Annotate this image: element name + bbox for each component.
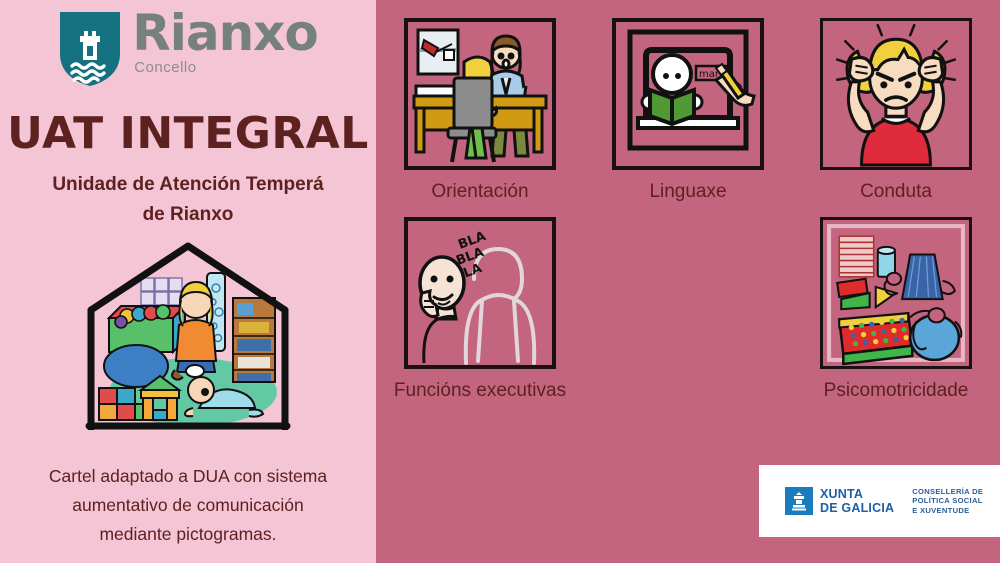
- service-card-psicomotricidade[interactable]: Psicomotricidade: [796, 217, 996, 402]
- xunta-line-2: DE GALICIA: [820, 501, 894, 515]
- counselling-session-pictogram: [404, 18, 556, 170]
- conselleria-line-3: E XUVENTUDE: [912, 506, 983, 516]
- page-subtitle: Unidade de Atención Temperá de Rianxo: [52, 170, 323, 230]
- castle-tower-waves-shield-icon: [58, 10, 122, 88]
- services-row-2: BLA BLA BLA: [376, 217, 1000, 402]
- conselleria-line-1: CONSELLERÍA DE: [912, 487, 983, 497]
- page-title: UAT INTEGRAL: [7, 110, 369, 158]
- poster-caption-line1: Cartel adaptado a DUA con sistema: [49, 466, 327, 486]
- xunta-emblem-icon: [785, 487, 813, 515]
- service-label-funcions: Funcións executivas: [394, 380, 566, 402]
- xunta-wordmark: XUNTA DE GALICIA: [820, 487, 894, 515]
- service-card-linguaxe[interactable]: mar Linguaxe: [588, 18, 788, 203]
- service-card-orientacion[interactable]: Orientación: [380, 18, 580, 203]
- services-grid: Orientación: [376, 18, 1000, 402]
- house-playroom-illustration: [81, 240, 295, 430]
- poster-root: Rianxo Concello UAT INTEGRAL Unidade de …: [0, 0, 1000, 563]
- poster-caption-line3: mediante pictogramas.: [99, 524, 276, 544]
- page-subtitle-line2: de Rianxo: [143, 204, 234, 225]
- service-card-conduta[interactable]: Conduta: [796, 18, 996, 203]
- angry-child-pictogram: [820, 18, 972, 170]
- xunta-de-galicia-logo: XUNTA DE GALICIA: [785, 487, 894, 515]
- poster-caption: Cartel adaptado a DUA con sistema aument…: [0, 462, 376, 549]
- service-card-funcions[interactable]: BLA BLA BLA: [380, 217, 580, 402]
- conselleria-line-2: POLÍTICA SOCIAL: [912, 496, 983, 506]
- brand-logo: Rianxo Concello: [0, 8, 376, 96]
- service-label-linguaxe: Linguaxe: [649, 181, 726, 203]
- services-row-1: Orientación: [376, 18, 1000, 203]
- conselleria-wordmark: CONSELLERÍA DE POLÍTICA SOCIAL E XUVENTU…: [912, 487, 983, 516]
- brand-name: Rianxo: [132, 8, 318, 58]
- page-subtitle-line1: Unidade de Atención Temperá: [52, 174, 323, 195]
- left-panel: Rianxo Concello UAT INTEGRAL Unidade de …: [0, 0, 376, 563]
- service-label-psicomotricidade: Psicomotricidade: [824, 380, 969, 402]
- footer-logo-bar: XUNTA DE GALICIA CONSELLERÍA DE POLÍTICA…: [759, 465, 1000, 537]
- poster-caption-line2: aumentativo de comunicación: [72, 495, 304, 515]
- talking-person-bla-pictogram: BLA BLA BLA: [404, 217, 556, 369]
- psychomotor-equipment-pictogram: [820, 217, 972, 369]
- reading-writing-pictogram: mar: [612, 18, 764, 170]
- xunta-line-1: XUNTA: [820, 487, 894, 501]
- service-label-conduta: Conduta: [860, 181, 932, 203]
- service-label-orientacion: Orientación: [431, 181, 528, 203]
- right-panel: Orientación: [376, 0, 1000, 563]
- brand-text: Rianxo Concello: [132, 8, 318, 76]
- brand-subtitle: Concello: [134, 59, 318, 76]
